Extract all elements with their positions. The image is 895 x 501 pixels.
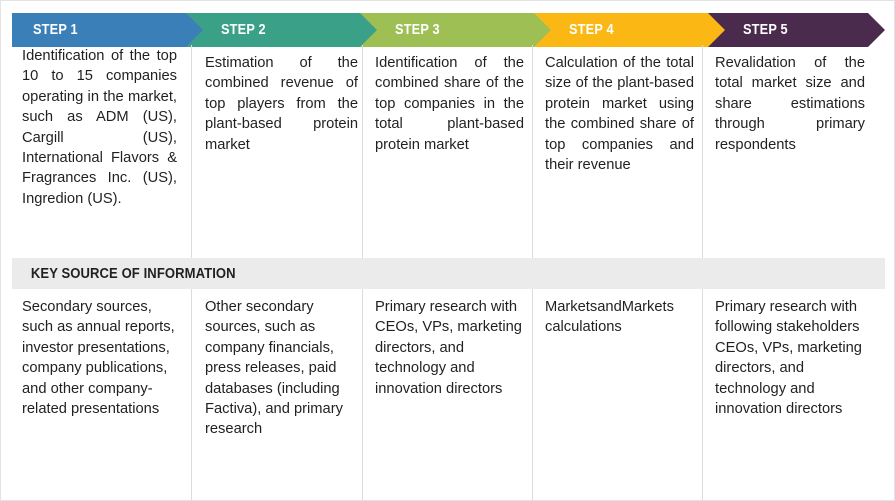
step-arrow-3[interactable]: STEP 3 — [360, 13, 555, 47]
step-label-3: STEP 3 — [395, 22, 440, 38]
step-arrow-5[interactable]: STEP 5 — [708, 13, 885, 47]
column-divider-top-3 — [532, 45, 533, 258]
chevron-polygon-2 — [186, 13, 381, 47]
methodology-column-4: Calculation of the total size of the pla… — [545, 53, 694, 175]
chevron-arrow-shape-icon — [534, 13, 729, 47]
step-label-1: STEP 1 — [33, 22, 78, 38]
methodology-column-2: Estimation of the combined revenue of to… — [205, 53, 358, 155]
column-divider-bottom-2 — [362, 289, 363, 501]
step-label-5: STEP 5 — [743, 22, 788, 38]
chevron-arrow-shape-icon — [360, 13, 555, 47]
step-arrow-2[interactable]: STEP 2 — [186, 13, 381, 47]
chevron-polygon-4 — [534, 13, 729, 47]
sources-column-4: MarketsandMarkets calculations — [545, 297, 697, 338]
methodology-column-5: Revalidation of the total market size an… — [715, 53, 865, 155]
key-source-banner: KEY SOURCE OF INFORMATION — [12, 258, 885, 289]
step-arrow-1[interactable]: STEP 1 — [12, 13, 207, 47]
chevron-arrow-shape-icon — [708, 13, 885, 47]
column-divider-top-1 — [191, 45, 192, 258]
column-divider-bottom-1 — [191, 289, 192, 501]
step-arrow-row: STEP 1 STEP 2 STEP 3 STEP 4 STEP 5 — [12, 13, 885, 47]
key-source-banner-label: KEY SOURCE OF INFORMATION — [12, 266, 236, 282]
methodology-column-3: Identification of the combined share of … — [375, 53, 524, 155]
sources-column-5: Primary research with following stakehol… — [715, 297, 867, 419]
sources-column-3: Primary research with CEOs, VPs, marketi… — [375, 297, 525, 399]
market-size-estimation-methodology-figure: STEP 1 STEP 2 STEP 3 STEP 4 STEP 5 — [0, 0, 895, 501]
column-divider-bottom-3 — [532, 289, 533, 501]
step-label-2: STEP 2 — [221, 22, 266, 38]
chevron-polygon-5 — [708, 13, 885, 47]
step-label-4: STEP 4 — [569, 22, 614, 38]
step-arrow-4[interactable]: STEP 4 — [534, 13, 729, 47]
chevron-arrow-shape-icon — [186, 13, 381, 47]
sources-column-1: Secondary sources, such as annual report… — [22, 297, 182, 419]
column-divider-top-4 — [702, 45, 703, 258]
sources-column-2: Other secondary sources, such as company… — [205, 297, 357, 440]
column-divider-top-2 — [362, 45, 363, 258]
chevron-polygon-3 — [360, 13, 555, 47]
methodology-column-1: Identification of the top 10 to 15 compa… — [22, 46, 177, 209]
column-divider-bottom-4 — [702, 289, 703, 501]
